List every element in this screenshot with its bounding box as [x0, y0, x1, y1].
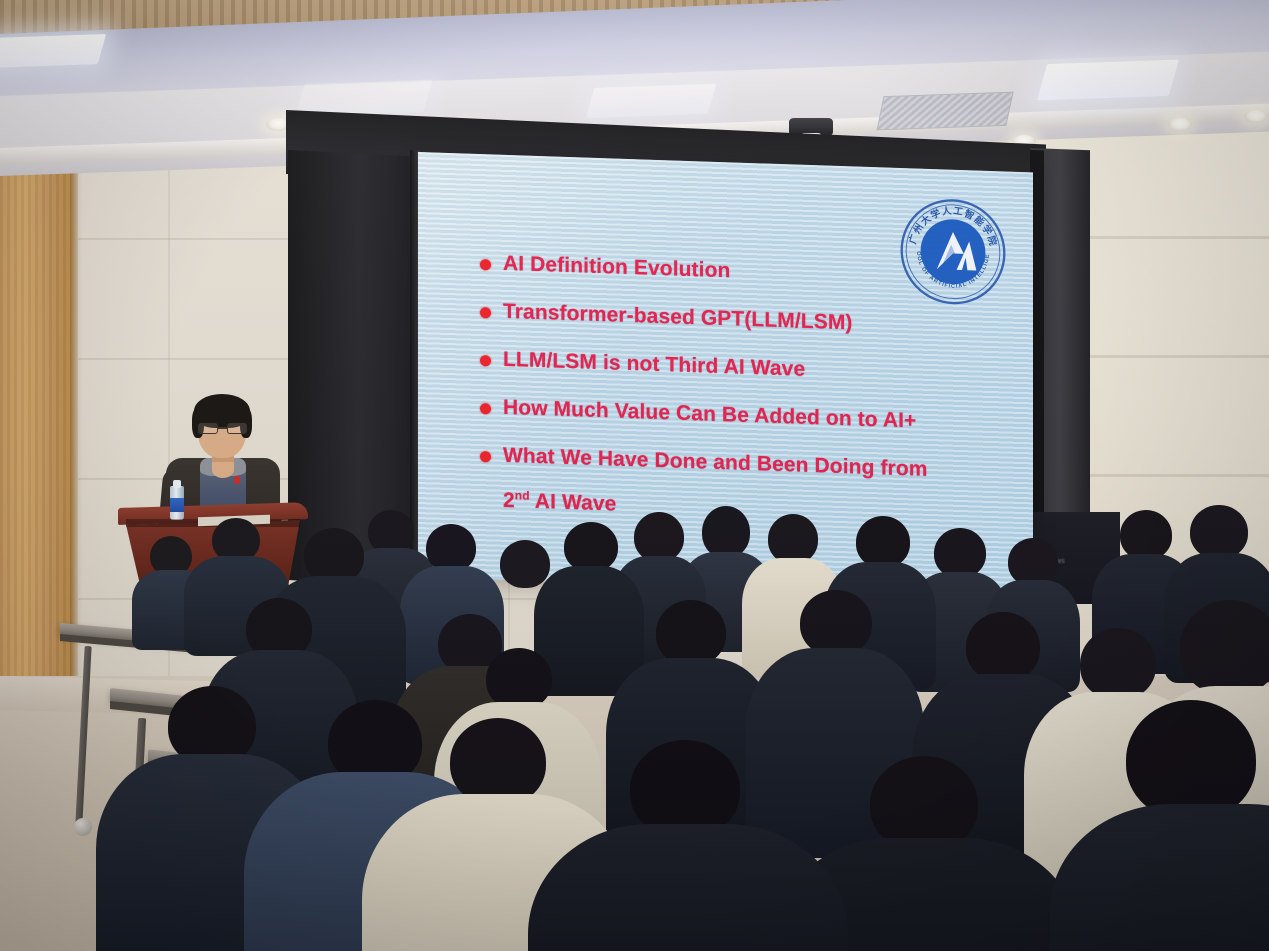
audience-body: [1050, 804, 1269, 951]
audience-head: [800, 590, 872, 656]
school-of-ai-logo-icon: 广州大学人工智能学院 SCHOOL OF ARTIFICIAL INTELLIG…: [899, 196, 1007, 308]
slide-bullet-text: How Much Value Can Be Added on to AI+: [503, 395, 916, 434]
audience-head: [656, 600, 726, 666]
audience-head: [1008, 538, 1058, 586]
audience-head: [1126, 700, 1256, 820]
slide-bullet-item: What We Have Done and Been Doing from: [480, 442, 1017, 485]
presenter-glasses-icon: [198, 423, 247, 434]
bullet-dot-icon: [480, 403, 491, 414]
slide-bullet-text: Transformer-based GPT(LLM/LSM): [503, 299, 853, 336]
presenter-lanyard-clip: [234, 476, 240, 484]
presenter-collar-inner: [212, 462, 234, 478]
lecture-hall-photo: DNS all windows 广州大学人工智能学院 SCHOOL OF ART…: [0, 0, 1269, 951]
audience-head: [564, 522, 618, 572]
slide-bullet-text: LLM/LSM is not Third AI Wave: [503, 347, 805, 382]
ceiling-downlight: [1168, 118, 1192, 131]
bottle-label: [170, 498, 184, 512]
bullet-dot-icon: [480, 307, 491, 318]
hvac-vent: [876, 92, 1013, 131]
continuation-number: 2: [503, 489, 515, 512]
continuation-ordinal: nd: [515, 488, 530, 502]
slide-bullet-item: LLM/LSM is not Third AI Wave: [480, 346, 1017, 389]
ceiling-downlight: [1244, 110, 1268, 123]
audience-head: [934, 528, 986, 578]
desk-caster: [74, 818, 92, 836]
bullet-dot-icon: [480, 355, 491, 366]
ceiling-panel-light: [0, 34, 106, 68]
audience-head: [768, 514, 818, 564]
ceiling-panel-light: [1037, 60, 1179, 101]
bottle-cap: [173, 480, 181, 488]
wood-wall-column: [0, 112, 74, 697]
continuation-rest: AI Wave: [530, 490, 617, 516]
audience-head: [450, 718, 546, 806]
slide-bullet-item: How Much Value Can Be Added on to AI+: [480, 394, 1017, 437]
audience-member: [556, 740, 816, 951]
audience-head: [1190, 505, 1248, 559]
audience-head: [634, 512, 684, 562]
audience-body: [528, 824, 848, 951]
slide-bullet-text: What We Have Done and Been Doing from: [503, 443, 928, 482]
water-bottle: [170, 478, 184, 520]
audience-head: [486, 648, 552, 710]
ceiling-panel-light: [586, 84, 717, 119]
bullet-dot-icon: [480, 451, 491, 462]
audience-head: [702, 506, 750, 558]
wood-column-edge: [70, 112, 78, 697]
slide-bullet-text: AI Definition Evolution: [503, 251, 730, 284]
slide-continuation-text: 2nd AI Wave: [503, 483, 616, 517]
audience-head: [966, 612, 1040, 682]
audience-head: [856, 516, 910, 568]
audience-head: [426, 524, 476, 572]
audience-head: [1120, 510, 1172, 560]
audience-head: [1080, 628, 1156, 700]
audience-head: [1180, 600, 1269, 696]
bullet-dot-icon: [480, 259, 491, 270]
audience-member: [1080, 700, 1269, 951]
